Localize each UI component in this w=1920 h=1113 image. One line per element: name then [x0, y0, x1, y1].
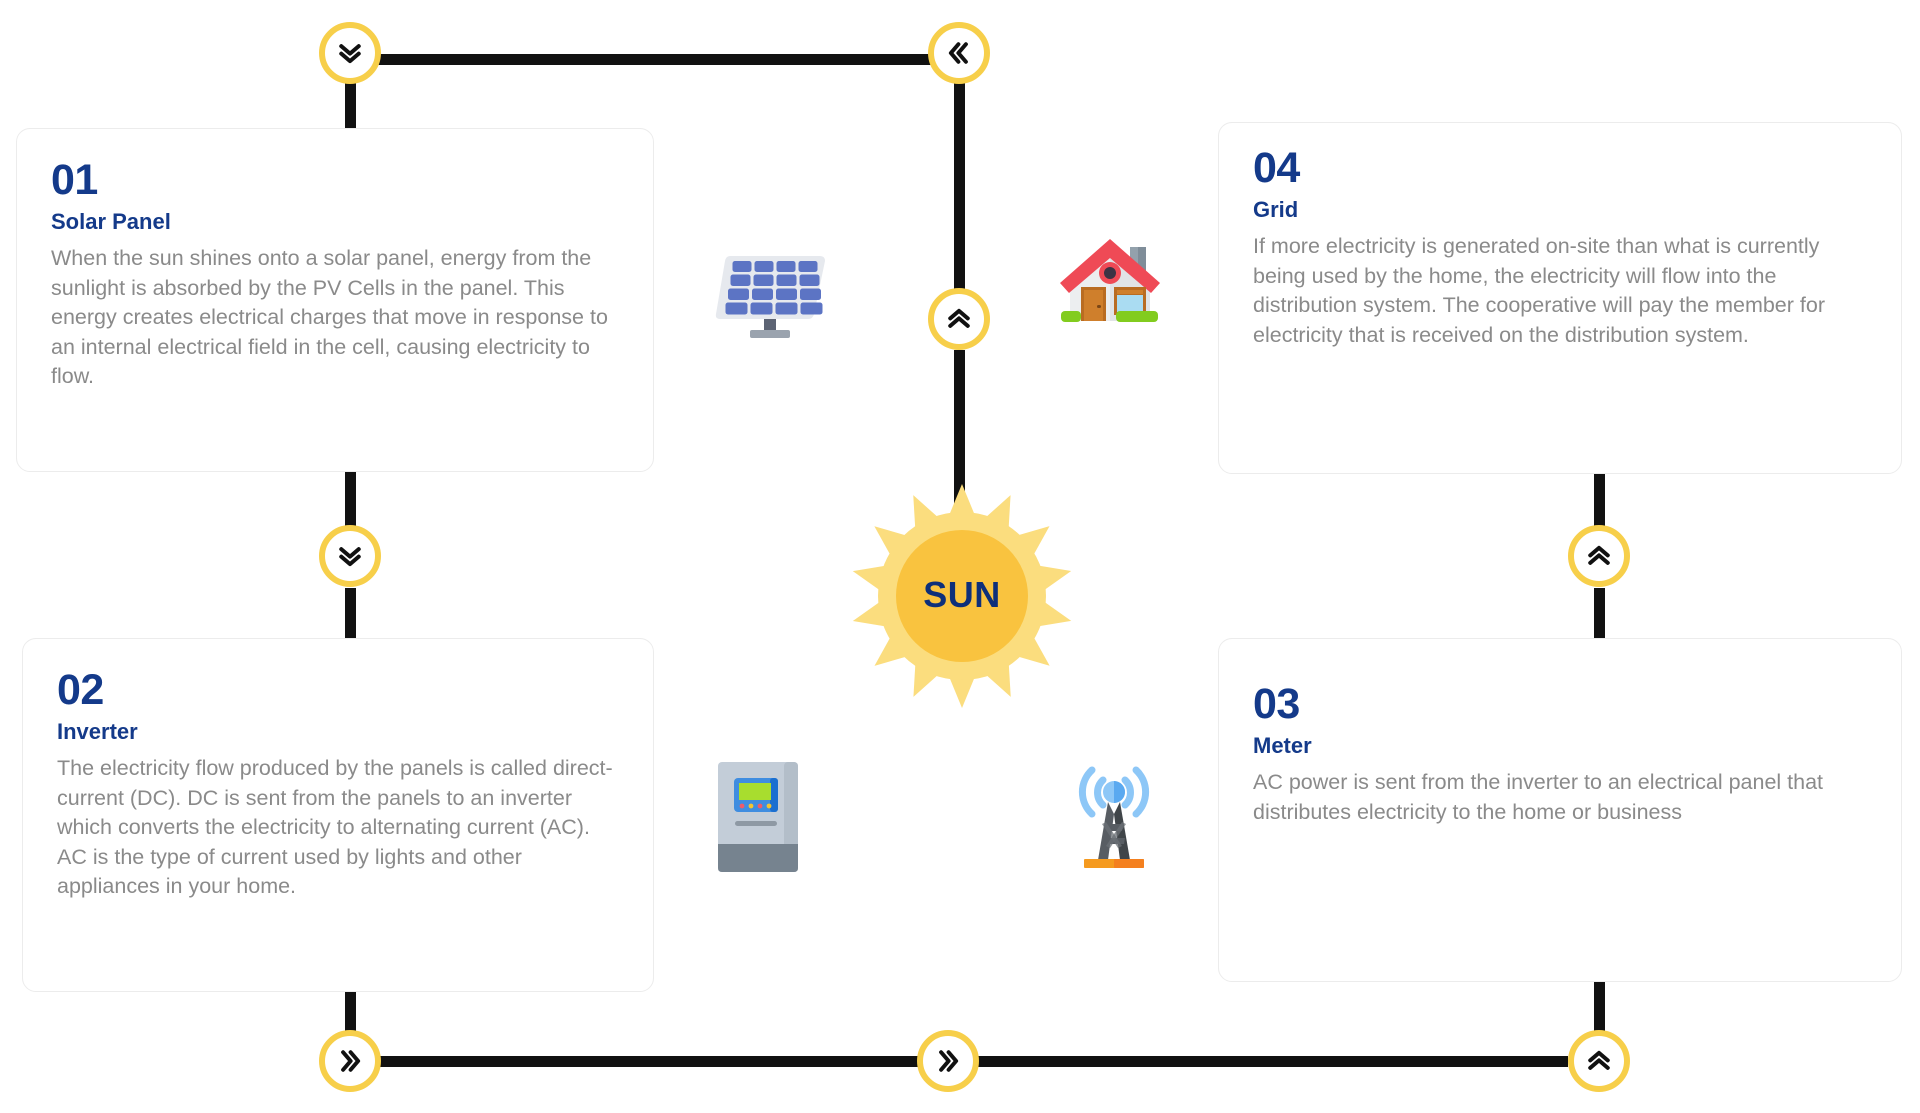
card-title: Solar Panel	[51, 210, 619, 234]
chevron-right-badge-bottom-left[interactable]	[319, 1030, 381, 1092]
connector-top-horizontal	[350, 54, 960, 65]
card-number: 02	[57, 669, 619, 712]
card-number: 04	[1253, 147, 1867, 190]
chevron-double-up-icon	[1584, 1046, 1614, 1076]
connector-left-mid-lower	[345, 588, 356, 640]
card-grid[interactable]: 04 Grid If more electricity is generated…	[1218, 122, 1902, 474]
chevron-double-up-icon	[944, 304, 974, 334]
chevron-left-badge-top-right[interactable]	[928, 22, 990, 84]
card-body: When the sun shines onto a solar panel, …	[51, 244, 619, 391]
card-title: Meter	[1253, 734, 1867, 758]
connector-bottom-left-segment	[372, 1056, 918, 1067]
solar-panel-icon	[706, 240, 836, 350]
connector-center-upper	[954, 80, 965, 295]
chevron-down-badge-top-left[interactable]	[319, 22, 381, 84]
card-body: The electricity flow produced by the pan…	[57, 754, 619, 901]
card-solar-panel[interactable]: 01 Solar Panel When the sun shines onto …	[16, 128, 654, 472]
inverter-icon	[712, 758, 808, 876]
card-body: If more electricity is generated on-site…	[1253, 232, 1867, 350]
chevron-right-badge-bottom-center[interactable]	[917, 1030, 979, 1092]
connector-bottom-right-segment	[960, 1056, 1568, 1067]
connector-right-mid	[1594, 588, 1605, 640]
chevron-up-badge-bottom-right[interactable]	[1568, 1030, 1630, 1092]
card-meter[interactable]: 03 Meter AC power is sent from the inver…	[1218, 638, 1902, 982]
card-title: Grid	[1253, 198, 1867, 222]
antenna-tower-icon	[1062, 758, 1166, 876]
house-icon	[1048, 225, 1172, 343]
solar-flow-diagram: 01 Solar Panel When the sun shines onto …	[0, 0, 1920, 1113]
chevron-double-up-icon	[1584, 541, 1614, 571]
card-body: AC power is sent from the inverter to an…	[1253, 768, 1867, 827]
chevron-double-down-icon	[335, 38, 365, 68]
chevron-up-badge-right-mid[interactable]	[1568, 525, 1630, 587]
card-inverter[interactable]: 02 Inverter The electricity flow produce…	[22, 638, 654, 992]
chevron-up-badge-center[interactable]	[928, 288, 990, 350]
connector-left-top-stub	[345, 80, 356, 128]
sun-icon: SUN	[846, 480, 1078, 712]
card-number: 03	[1253, 683, 1867, 726]
chevron-down-badge-left-mid[interactable]	[319, 525, 381, 587]
chevron-double-down-icon	[335, 541, 365, 571]
chevron-double-right-icon	[933, 1046, 963, 1076]
card-number: 01	[51, 159, 619, 202]
chevron-double-left-icon	[944, 38, 974, 68]
chevron-double-right-icon	[335, 1046, 365, 1076]
card-title: Inverter	[57, 720, 619, 744]
